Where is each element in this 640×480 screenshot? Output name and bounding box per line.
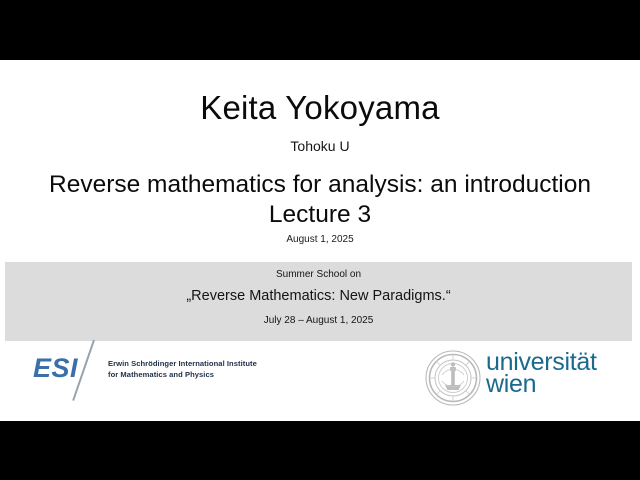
event-kicker: Summer School on [5, 269, 632, 280]
talk-date: August 1, 2025 [0, 234, 640, 245]
logo-footer: ESI Erwin Schrödinger International Inst… [0, 341, 640, 421]
talk-title-line-1: Reverse mathematics for analysis: an int… [0, 170, 640, 200]
esi-monogram: ESI [33, 353, 78, 384]
universitaet-wien-wordmark: universität wien [486, 351, 597, 395]
esi-name-line-2: for Mathematics and Physics [108, 370, 278, 381]
talk-title: Reverse mathematics for analysis: an int… [0, 170, 640, 230]
speaker-name: Keita Yokoyama [0, 89, 640, 127]
letterbox-bottom [0, 421, 640, 480]
video-viewport: Keita Yokoyama Tohoku U Reverse mathemat… [0, 0, 640, 480]
esi-institute-name: Erwin Schrödinger International Institut… [108, 359, 278, 380]
event-info-band: Summer School on „Reverse Mathematics: N… [5, 262, 632, 341]
university-seal-icon [425, 350, 481, 406]
uniwien-name-line-2: wien [486, 373, 597, 395]
esi-logo: ESI Erwin Schrödinger International Inst… [33, 346, 273, 406]
presentation-slide: Keita Yokoyama Tohoku U Reverse mathemat… [0, 60, 640, 421]
esi-name-line-1: Erwin Schrödinger International Institut… [108, 359, 278, 370]
letterbox-top [0, 0, 640, 60]
talk-title-line-2: Lecture 3 [0, 200, 640, 230]
event-title: „Reverse Mathematics: New Paradigms.“ [5, 288, 632, 304]
speaker-affiliation: Tohoku U [0, 138, 640, 154]
universitaet-wien-logo: universität wien [425, 343, 615, 407]
event-dates: July 28 – August 1, 2025 [5, 315, 632, 326]
